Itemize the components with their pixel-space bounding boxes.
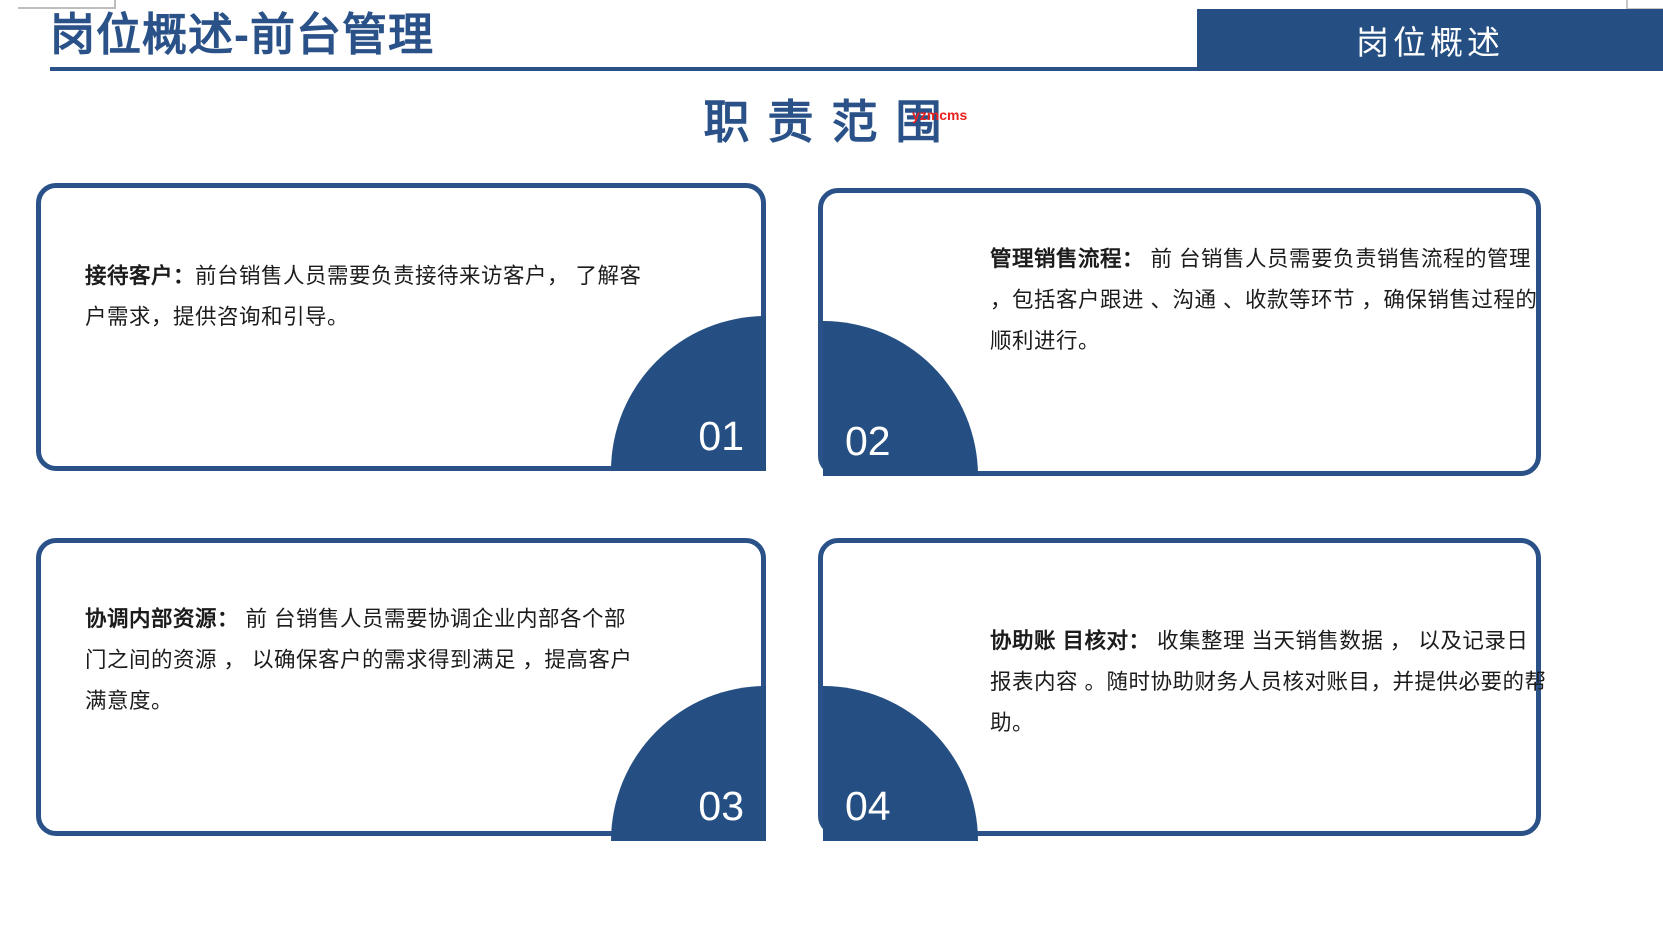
top-left-tick-artifact bbox=[114, 0, 116, 9]
card-03-title: 协调内部资源： bbox=[85, 607, 239, 631]
card-03-text: 协调内部资源： 前 台销售人员需要协调企业内部各个部门之间的资源 ， 以确保客户… bbox=[85, 599, 645, 722]
page-title: 岗位概述-前台管理 bbox=[50, 9, 434, 61]
card-01-text: 接待客户：前台销售人员需要负责接待来访客户， 了解客户需求，提供咨询和引导。 bbox=[85, 256, 645, 338]
header-badge-label: 岗位概述 bbox=[1356, 16, 1504, 64]
card-02-title: 管理销售流程： bbox=[990, 247, 1144, 271]
card-02-text: 管理销售流程： 前 台销售人员需要负责销售流程的管理 ，包括客户跟进 、沟通 、… bbox=[990, 239, 1545, 362]
card-04-number: 04 bbox=[823, 786, 913, 841]
card-01-number: 01 bbox=[676, 416, 766, 471]
watermark-text: yzmcms bbox=[912, 107, 967, 123]
card-03-number: 03 bbox=[676, 786, 766, 841]
section-heading: 职责范围 bbox=[0, 86, 1663, 152]
card-02-number: 02 bbox=[823, 421, 913, 476]
header-badge: 岗位概述 bbox=[1197, 9, 1663, 71]
title-underline-rule bbox=[50, 67, 1197, 71]
card-04-text: 协助账 目核对： 收集整理 当天销售数据 ， 以及记录日报表内容 。随时协助财务… bbox=[990, 621, 1550, 744]
card-01-title: 接待客户： bbox=[85, 264, 195, 288]
card-04-title: 协助账 目核对： bbox=[990, 629, 1150, 653]
